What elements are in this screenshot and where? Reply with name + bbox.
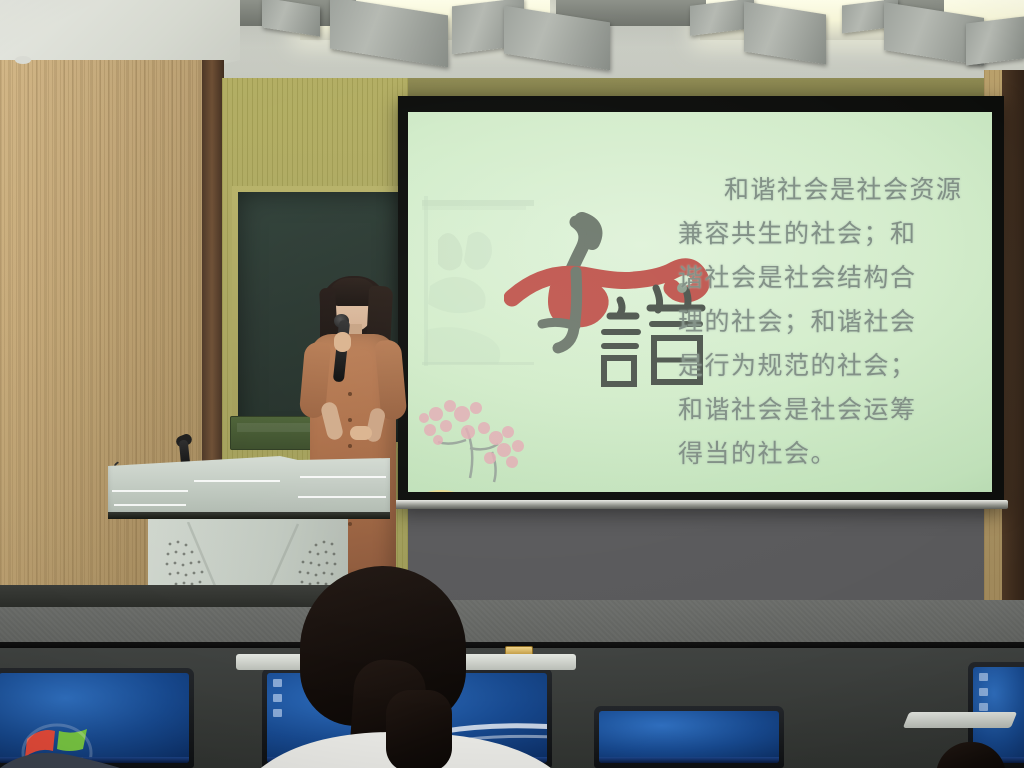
slide-line: 兼容共生的社会；和 xyxy=(678,212,978,256)
presenter-hand-left xyxy=(334,332,351,352)
projection-screen-frame: 和谐社会是社会资源 兼容共生的社会；和 谐社会是社会结构合 理的社会；和谐社会 … xyxy=(398,96,1004,508)
lecture-hall-scene: 和谐社会是社会资源 兼容共生的社会；和 谐社会是社会结构合 理的社会；和谐社会 … xyxy=(0,0,1024,768)
slide-line: 是行为规范的社会； xyxy=(678,344,978,388)
presenter-hand-right xyxy=(350,426,372,440)
projection-screen-surface: 和谐社会是社会资源 兼容共生的社会；和 谐社会是社会结构合 理的社会；和谐社会 … xyxy=(408,112,992,492)
slide-line: 和谐社会是社会运筹 xyxy=(678,388,978,432)
monitor-screen[interactable] xyxy=(599,711,779,763)
slide-line: 理的社会；和谐社会 xyxy=(678,300,978,344)
slide-line: 得当的社会。 xyxy=(678,432,978,476)
slide-line: 和谐社会是社会资源 xyxy=(678,168,978,212)
cherry-blossom-branch xyxy=(408,392,598,492)
podium-desktop xyxy=(108,456,390,518)
projection-screen-weight-bar xyxy=(394,500,1008,509)
light-baffle-1 xyxy=(262,0,320,37)
light-baffle-9 xyxy=(966,16,1024,65)
desk-monitor-slot-3 xyxy=(903,712,1017,728)
podium-lip xyxy=(108,512,390,519)
student-monitor-4[interactable] xyxy=(594,706,784,768)
student-left-shoulder xyxy=(0,742,120,768)
monitor-taskbar[interactable] xyxy=(599,757,779,763)
slide-line: 谐社会是社会结构合 xyxy=(678,256,978,300)
student-ponytail-lower xyxy=(386,690,452,768)
smoke-detector-icon xyxy=(14,56,32,66)
slide-body-text: 和谐社会是社会资源 兼容共生的社会；和 谐社会是社会结构合 理的社会；和谐社会 … xyxy=(678,168,978,476)
right-pillar xyxy=(1002,70,1024,650)
